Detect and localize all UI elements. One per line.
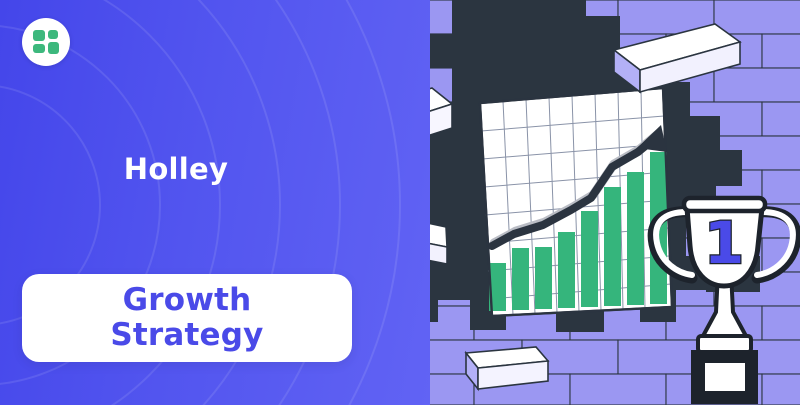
four-squares-grid-icon [32,28,60,56]
trophy-base-plaque [705,363,745,391]
chart-bar [581,211,598,307]
title-line-1: Growth [123,283,252,318]
trophy-rank-label: 1 [704,209,744,277]
chart-bar [535,247,552,309]
trophy-foot [698,336,751,352]
chart-bar [604,187,621,306]
growth-strategy-banner: 1 Holley Growth Strategy [0,0,800,405]
title-line-2: Strategy [110,318,263,353]
author-name: Holley [0,152,352,186]
title-card: Growth Strategy [22,274,352,362]
brand-logo[interactable] [22,18,70,66]
chart-bar [558,232,575,308]
chart-bar [512,248,529,310]
flying-brick [466,347,548,389]
chart-bar [627,172,644,305]
